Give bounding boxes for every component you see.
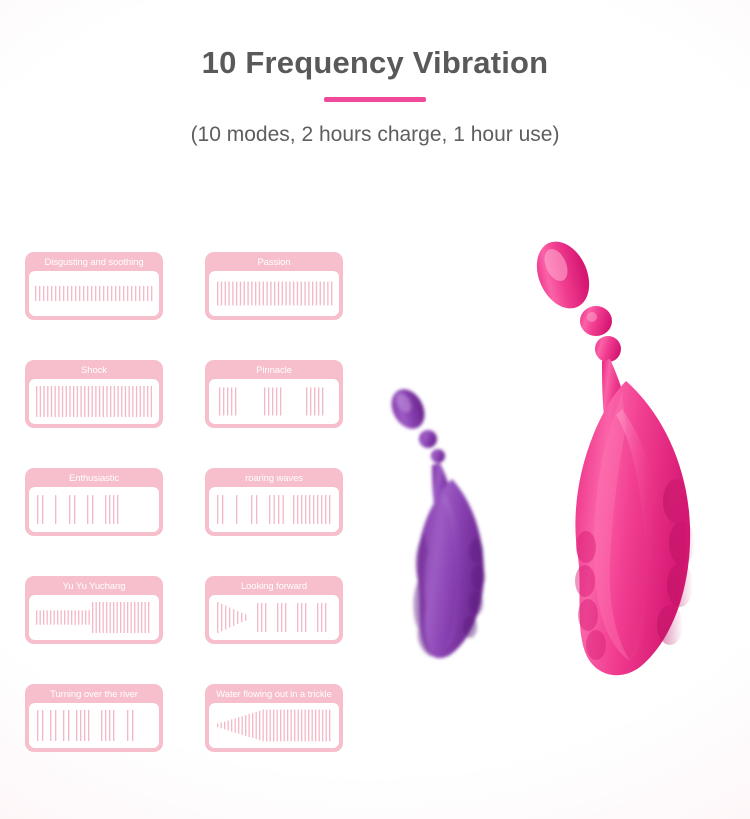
title-accent-bar xyxy=(324,97,426,102)
mode-card-label: Pinnacle xyxy=(209,362,339,379)
mode-waveform xyxy=(29,487,159,532)
mode-waveform xyxy=(209,595,339,640)
mode-card: Passion xyxy=(205,252,343,320)
vibration-mode-grid: Disgusting and soothingPassionShockPinna… xyxy=(25,252,345,752)
mode-card: Shock xyxy=(25,360,163,428)
mode-card-label: Looking forward xyxy=(209,578,339,595)
mode-card: roaring waves xyxy=(205,468,343,536)
infographic-page: 10 Frequency Vibration (10 modes, 2 hour… xyxy=(0,0,750,819)
mode-card: Pinnacle xyxy=(205,360,343,428)
mode-card-label: Disgusting and soothing xyxy=(29,254,159,271)
mode-card: Looking forward xyxy=(205,576,343,644)
mode-card-label: Passion xyxy=(209,254,339,271)
mode-waveform xyxy=(29,271,159,316)
mode-card: Turning over the river xyxy=(25,684,163,752)
mode-waveform xyxy=(209,703,339,748)
mode-card: Yu Yu Yuchang xyxy=(25,576,163,644)
product-image-purple xyxy=(384,383,506,665)
mode-waveform xyxy=(209,487,339,532)
mode-card-label: Shock xyxy=(29,362,159,379)
mode-card-label: Yu Yu Yuchang xyxy=(29,578,159,595)
page-subtitle: (10 modes, 2 hours charge, 1 hour use) xyxy=(0,122,750,148)
product-image-pink xyxy=(530,231,725,681)
mode-card: Disgusting and soothing xyxy=(25,252,163,320)
mode-card: Water flowing out in a trickle xyxy=(205,684,343,752)
mode-card-label: roaring waves xyxy=(209,470,339,487)
mode-waveform xyxy=(29,703,159,748)
mode-card-label: Water flowing out in a trickle xyxy=(209,686,339,703)
mode-waveform xyxy=(29,595,159,640)
mode-waveform xyxy=(209,271,339,316)
mode-card-label: Turning over the river xyxy=(29,686,159,703)
mode-card-label: Enthusiastic xyxy=(29,470,159,487)
mode-waveform xyxy=(29,379,159,424)
mode-card: Enthusiastic xyxy=(25,468,163,536)
mode-waveform xyxy=(209,379,339,424)
header: 10 Frequency Vibration (10 modes, 2 hour… xyxy=(0,44,750,148)
page-title: 10 Frequency Vibration xyxy=(0,44,750,81)
